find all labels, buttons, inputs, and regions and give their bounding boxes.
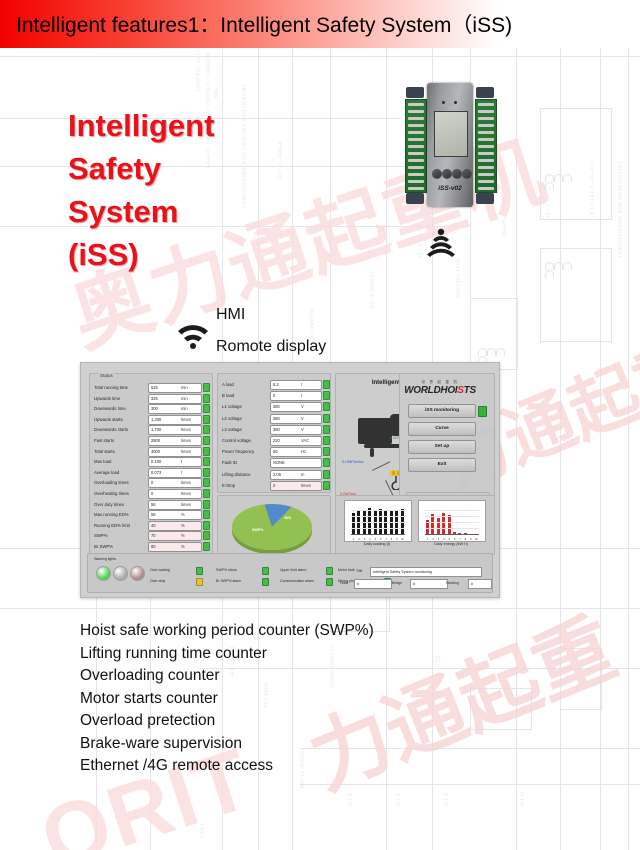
hmi-caption-line-1: HMI — [216, 306, 245, 324]
status-row-label: E-Stop — [222, 481, 235, 490]
status-row: Lifting distance2.06m — [222, 470, 328, 479]
status-row-label: Average load — [94, 468, 119, 477]
device-button-4[interactable] — [462, 169, 472, 179]
status-row-label: Downwards starts — [94, 425, 128, 434]
indicator-label: Motor fault — [338, 568, 355, 572]
status-row-unit: times — [181, 426, 191, 434]
status-row-value: 70 — [151, 532, 156, 540]
feature-item-5: Overload pretection — [80, 710, 374, 733]
title-field-input[interactable]: Intelligent Safety System monitoring — [370, 567, 482, 577]
pie-slice-label-1: 30% — [284, 516, 291, 520]
status-row-field[interactable]: 380V — [270, 414, 322, 424]
iss-controller-device: iSS-v02 — [401, 79, 499, 211]
chart-bar — [448, 515, 451, 535]
warning-lamp-yellow — [113, 566, 128, 581]
status-row-unit: t — [301, 392, 302, 400]
status-row-label: Total starts — [94, 447, 115, 456]
status-row: Average load0.073t — [94, 468, 210, 477]
status-row: Max load0.100t — [94, 457, 210, 466]
status-row-label: SWP% — [94, 531, 108, 540]
status-row-led — [203, 478, 210, 487]
status-row-label: Control voltage — [222, 436, 251, 445]
status-row: Downwards time300min — [94, 404, 210, 413]
indicator-label: Communication alarm — [280, 579, 314, 583]
indicator-led — [326, 578, 333, 586]
status-row-field[interactable]: 50Hz — [270, 447, 322, 457]
status-row-value: NONE — [273, 459, 285, 467]
status-row-field[interactable]: 1,700times — [148, 425, 202, 435]
status-row: L1 voltage380V — [222, 402, 328, 411]
status-row-value: 0 — [151, 490, 153, 498]
status-row-value: 380 — [273, 415, 280, 423]
status-row-label: Upwards starts — [94, 415, 123, 424]
status-group-mid: A load5.2tB load0tL1 voltage380VL2 volta… — [217, 373, 331, 493]
status-row-unit: times — [181, 437, 191, 445]
chart-gridline — [351, 510, 405, 511]
status-row: Upwards starts1,300times — [94, 415, 210, 424]
status-row-unit: % — [181, 522, 185, 530]
warning-lamp-green — [96, 566, 111, 581]
indicator-led — [196, 578, 203, 586]
status-row-value: 0.100 — [151, 458, 161, 466]
button-iss-monitoring[interactable]: iSS monitoring — [408, 404, 476, 418]
hoisting-field-input[interactable]: # — [468, 579, 492, 589]
button-led-indicator — [478, 406, 487, 417]
status-row-value: 0 — [151, 479, 153, 487]
status-row-led — [323, 470, 330, 479]
status-row-label: Downwards time — [94, 404, 126, 413]
status-row: E-Stop2times — [222, 481, 328, 490]
status-row-led — [323, 447, 330, 456]
button-curve[interactable]: Curve — [408, 422, 476, 436]
signal-waves-icon — [424, 228, 458, 258]
status-row: Fast starts2800times — [94, 436, 210, 445]
status-row-unit: times — [181, 448, 191, 456]
status-row-field[interactable]: 380V — [270, 425, 322, 435]
status-row: Overheating times0times — [94, 489, 210, 498]
status-row: Max running ED%58% — [94, 510, 210, 519]
status-row-label: B load — [222, 391, 234, 400]
terminal-block-right — [475, 99, 497, 193]
status-row-led — [323, 391, 330, 400]
status-row: A load5.2t — [222, 380, 328, 389]
status-row-field[interactable]: NONE — [270, 458, 322, 468]
hero-title-line-3: System — [68, 190, 278, 233]
chart-gridline — [351, 516, 405, 517]
status-row-label: Power frequency — [222, 447, 254, 456]
status-row-led — [203, 542, 210, 551]
status-row-unit: times — [181, 479, 191, 487]
indicator-label: Upper limit alarm — [280, 568, 306, 572]
status-row: SWP%70% — [94, 531, 210, 540]
status-row-unit: times — [181, 416, 191, 424]
status-row-label: Total running time — [94, 383, 128, 392]
status-row-value: 0.073 — [151, 469, 161, 477]
status-row-unit: VAC — [301, 437, 309, 445]
status-row: L3 voltage380V — [222, 425, 328, 434]
status-row-field[interactable]: 0t — [270, 391, 322, 401]
status-row-field[interactable]: 2times — [270, 481, 322, 491]
callout-0: 0.100t/7m/min — [342, 460, 364, 464]
status-row-led — [323, 436, 330, 445]
hmi-status-bar: Warning lights Over loadingOver dutySWP%… — [87, 553, 493, 593]
feature-item-6: Brake-ware supervision — [80, 733, 374, 756]
status-row-value: 220 — [273, 437, 280, 445]
chart-bar — [363, 511, 366, 535]
status-row-led — [203, 447, 210, 456]
status-group-left: Status Total running time625minUpwards t… — [89, 373, 213, 555]
page-title: Intelligent features1：Intelligent Safety… — [16, 9, 512, 39]
status-row-label: Fault ID — [222, 458, 237, 467]
status-row-value: 80 — [151, 543, 156, 551]
bridge-field-label: Bridge — [392, 581, 402, 585]
status-row-unit: t — [301, 381, 302, 389]
status-row-unit: min — [181, 384, 188, 392]
feature-list: Hoist safe working period counter (SWP%)… — [80, 620, 374, 778]
status-row-value: 58 — [151, 511, 156, 519]
status-row-field[interactable]: 0times — [148, 478, 202, 488]
status-row-field[interactable]: 56times — [148, 500, 202, 510]
indicator-label: SWP% alarm — [216, 568, 237, 572]
status-row-led — [203, 404, 210, 413]
device-button-3[interactable] — [452, 169, 462, 179]
indicator-led — [326, 567, 333, 575]
status-row-unit: min — [181, 395, 188, 403]
status-row-label: A load — [222, 380, 234, 389]
status-row: Br SWP%80% — [94, 542, 210, 551]
indicator-label: Br SWP% alarm — [216, 579, 241, 583]
chart-xtick: 10 — [474, 538, 479, 541]
daily-energy-chart: 12345678910 — [418, 500, 486, 542]
status-row-value: 50 — [273, 448, 278, 456]
status-row: B load0t — [222, 391, 328, 400]
status-row-led — [323, 402, 330, 411]
status-row-value: 325 — [151, 395, 158, 403]
indicator-led — [262, 578, 269, 586]
terminal-block-left — [405, 99, 427, 193]
chart-gridline — [351, 522, 405, 523]
chart-bar — [431, 514, 434, 535]
status-row-label: L1 voltage — [222, 402, 242, 411]
status-row: Running ED% limit40% — [94, 521, 210, 530]
status-row-field[interactable]: 58% — [148, 510, 202, 520]
device-led-1 — [442, 101, 445, 104]
status-row-label: Lifting distance — [222, 470, 251, 479]
status-row-value: 40 — [151, 522, 156, 530]
bar-charts-group: 12345678910 Daily loading (t) 1234567891… — [335, 495, 495, 555]
status-row-unit: V — [301, 426, 304, 434]
status-row-unit: times — [181, 501, 191, 509]
status-row-value: 1,300 — [151, 416, 161, 424]
warning-lamp-red — [130, 566, 145, 581]
status-row-value: 56 — [151, 501, 156, 509]
title-field-label: Title — [356, 569, 362, 573]
hoist-field-input[interactable]: # — [354, 579, 392, 589]
status-row-field[interactable]: 1,300times — [148, 415, 202, 425]
status-row: Over duty times56times — [94, 500, 210, 509]
status-row-led — [203, 457, 210, 466]
pie-chart-group: SWP% 30% — [217, 495, 331, 555]
status-row-unit: V — [301, 403, 304, 411]
feature-item-3: Overloading counter — [80, 665, 374, 688]
status-row-field[interactable]: 380V — [270, 402, 322, 412]
hoist-field-label: Hoist — [340, 581, 348, 585]
status-row-led — [203, 425, 210, 434]
status-row-unit: Hz — [301, 448, 306, 456]
status-row-led — [323, 481, 330, 490]
button-set-up[interactable]: Set up — [408, 440, 476, 454]
status-row-led — [203, 510, 210, 519]
terminal-cap-bottom-left — [406, 193, 424, 204]
hero-title-line-2: Safety — [68, 147, 278, 190]
status-row-led — [203, 383, 210, 392]
terminal-cap-top-right — [476, 87, 494, 98]
status-group-title: Status — [98, 373, 115, 378]
hmi-caption-line-2: Romote display — [216, 338, 326, 356]
status-row-led — [203, 436, 210, 445]
status-row-label: Over duty times — [94, 500, 124, 509]
status-row-value: 5.2 — [273, 381, 279, 389]
status-row-led — [203, 489, 210, 498]
status-row-unit: % — [181, 532, 185, 540]
status-row-unit: t — [181, 458, 182, 466]
status-row-unit: m — [301, 471, 304, 479]
device-body: iSS-v02 — [427, 83, 473, 207]
feature-item-4: Motor starts counter — [80, 688, 374, 711]
status-row-field[interactable]: 625min — [148, 383, 202, 393]
status-row-led — [203, 521, 210, 530]
status-row: Total running time625min — [94, 383, 210, 392]
status-row-value: 2800 — [151, 437, 160, 445]
chart-xtick: 10 — [400, 538, 405, 541]
terminal-cap-bottom-right — [476, 193, 494, 204]
status-row-label: Running ED% limit — [94, 521, 130, 530]
status-row-field[interactable]: 3000times — [148, 447, 202, 457]
chart-gridline — [425, 528, 479, 529]
hoisting-field-label: Hoisting — [446, 581, 459, 585]
status-row: Control voltage220VAC — [222, 436, 328, 445]
status-row-label: Max load — [94, 457, 111, 466]
status-row-field[interactable]: 80% — [148, 542, 202, 552]
status-row: L2 voltage380V — [222, 414, 328, 423]
status-row-field[interactable]: 5.2t — [270, 380, 322, 390]
status-row-field[interactable]: 0.100t — [148, 457, 202, 467]
feature-item-7: Ethernet /4G remote access — [80, 755, 374, 778]
status-row-field[interactable]: 0times — [148, 489, 202, 499]
button-exit[interactable]: Exit — [408, 458, 476, 472]
status-row-value: 380 — [273, 426, 280, 434]
device-model-label: iSS-v02 — [427, 185, 473, 192]
status-row: Upwards time325min — [94, 394, 210, 403]
hero-title-line-1: Intelligent — [68, 104, 278, 147]
logo-text: WORLDHOISTS — [394, 385, 486, 396]
status-row-unit: V — [301, 415, 304, 423]
status-row-value: 3000 — [151, 448, 160, 456]
device-button-2[interactable] — [442, 169, 452, 179]
indicator-led — [196, 567, 203, 575]
status-row-field[interactable]: 40% — [148, 521, 202, 531]
wifi-icon — [176, 322, 210, 350]
indicator-led — [262, 567, 269, 575]
status-row-field[interactable]: 2.06m — [270, 470, 322, 480]
hero-title: Intelligent Safety System (iSS) — [68, 104, 278, 276]
warning-lights-title: Warning lights — [94, 557, 116, 561]
status-row-unit: % — [181, 511, 185, 519]
status-row-label: L2 voltage — [222, 414, 242, 423]
status-row: Overloading times0times — [94, 478, 210, 487]
status-row-value: 380 — [273, 403, 280, 411]
chart-gridline — [351, 528, 405, 529]
status-row: Total starts3000times — [94, 447, 210, 456]
status-row-led — [203, 468, 210, 477]
worldhoists-logo: 世 界 起 重 机 WORLDHOISTS — [394, 380, 486, 396]
status-row: Power frequency50Hz — [222, 447, 328, 456]
status-row-label: L3 voltage — [222, 425, 242, 434]
status-row-led — [203, 531, 210, 540]
status-row-value: 0 — [273, 392, 275, 400]
status-row-led — [203, 394, 210, 403]
hero-title-line-4: (iSS) — [68, 233, 278, 276]
terminal-cap-top-left — [406, 87, 424, 98]
status-row-label: Br SWP% — [94, 542, 113, 551]
status-row-unit: % — [181, 543, 185, 551]
status-row-led — [203, 415, 210, 424]
status-row-value: 625 — [151, 384, 158, 392]
chart-axis — [425, 534, 479, 535]
chart-bar — [437, 518, 440, 535]
pie-slice-label-0: SWP% — [252, 528, 263, 532]
status-row-led — [203, 500, 210, 509]
status-row-field[interactable]: 325min — [148, 394, 202, 404]
status-row-value: 1,700 — [151, 426, 161, 434]
device-led-2 — [454, 101, 457, 104]
page-header-bar: Intelligent features1：Intelligent Safety… — [0, 0, 640, 48]
status-row-led — [323, 425, 330, 434]
daily-loading-caption: Daily loading (t) — [344, 542, 410, 546]
hmi-screen-panel[interactable]: Status Total running time625minUpwards t… — [80, 362, 500, 598]
status-row-label: Fast starts — [94, 436, 114, 445]
status-row-label: Overloading times — [94, 478, 129, 487]
chart-gridline — [425, 522, 479, 523]
status-row-unit: t — [181, 469, 182, 477]
status-row-label: Overheating times — [94, 489, 129, 498]
daily-loading-chart: 12345678910 — [344, 500, 412, 542]
status-row-field[interactable]: 2800times — [148, 436, 202, 446]
indicator-label: Over duty — [150, 579, 165, 583]
status-row-field[interactable]: 70% — [148, 531, 202, 541]
status-row-value: 300 — [151, 405, 158, 413]
status-row-value: 2.06 — [273, 471, 281, 479]
status-row-field[interactable]: 220VAC — [270, 436, 322, 446]
device-lcd-screen — [434, 111, 468, 157]
status-row-led — [323, 458, 330, 467]
status-row: Fault IDNONE — [222, 458, 328, 467]
chart-gridline — [425, 510, 479, 511]
indicator-label: Over loading — [150, 568, 170, 572]
status-row-label: Max running ED% — [94, 510, 129, 519]
feature-item-1: Hoist safe working period counter (SWP%) — [80, 620, 374, 643]
status-row-unit: min — [181, 405, 188, 413]
status-row: Downwards starts1,700times — [94, 425, 210, 434]
status-row-led — [323, 380, 330, 389]
status-row-led — [323, 414, 330, 423]
status-row-unit: times — [181, 490, 191, 498]
chart-bar — [395, 511, 398, 535]
status-row-unit: times — [301, 482, 311, 490]
chart-gridline — [425, 516, 479, 517]
status-row-field[interactable]: 300min — [148, 404, 202, 414]
status-row-field[interactable]: 0.073t — [148, 468, 202, 478]
status-row-label: Upwards time — [94, 394, 120, 403]
logo-text-right: TS — [464, 385, 476, 396]
device-button-1[interactable] — [432, 169, 442, 179]
logo-text-left: WORLDHOI — [404, 385, 457, 396]
daily-energy-caption: Daily energy (kW·h) — [418, 542, 484, 546]
status-row-value: 2 — [273, 482, 275, 490]
feature-item-2: Lifting running time counter — [80, 643, 374, 666]
chart-axis — [351, 534, 405, 535]
bridge-field-input[interactable]: # — [410, 579, 448, 589]
